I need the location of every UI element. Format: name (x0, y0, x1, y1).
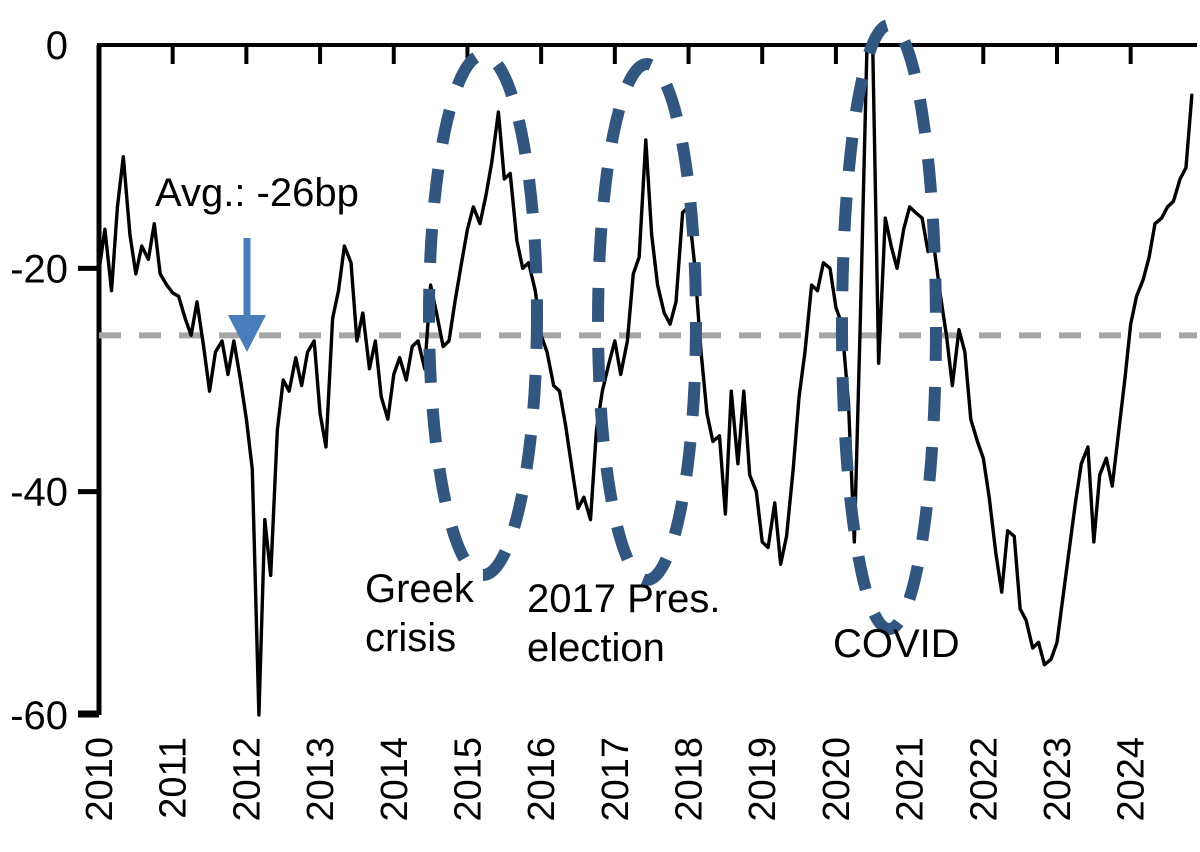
y-tick-label-0: 0 (46, 24, 68, 68)
x-tick-label-2013: 2013 (300, 737, 342, 822)
annotation-greek-crisis-line1: Greek (365, 567, 475, 611)
x-tick-label-2011: 2011 (153, 737, 195, 819)
x-tick-labels: 2010201120122013201420152016201720182019… (79, 737, 1153, 822)
y-tick-label--20: -20 (10, 247, 68, 291)
average-label: Avg.: -26bp (155, 171, 359, 215)
x-tick-label-2021: 2021 (890, 737, 932, 822)
line-chart: 0-20-40-60 Avg.: -26bp Greek crisis 2017… (0, 0, 1200, 852)
x-tick-label-2018: 2018 (669, 737, 711, 822)
x-tick-label-2020: 2020 (816, 737, 858, 822)
x-tick-label-2024: 2024 (1111, 737, 1153, 822)
x-tick-label-2015: 2015 (447, 737, 489, 822)
y-tick-label--40: -40 (10, 471, 68, 515)
x-tick-label-2019: 2019 (742, 737, 784, 822)
x-tick-label-2016: 2016 (521, 737, 563, 822)
chart-container: 0-20-40-60 Avg.: -26bp Greek crisis 2017… (0, 0, 1200, 852)
annotation-2017-election-line2: election (527, 626, 665, 670)
y-tick-label--60: -60 (10, 694, 68, 738)
x-tick-label-2017: 2017 (595, 737, 637, 822)
x-tick-label-2012: 2012 (226, 737, 268, 822)
x-tick-label-2010: 2010 (79, 737, 121, 822)
x-tick-label-2023: 2023 (1037, 737, 1079, 822)
annotation-2017-election-line1: 2017 Pres. (527, 577, 720, 621)
x-tick-label-2022: 2022 (963, 737, 1005, 822)
annotation-covid-label: COVID (833, 622, 960, 666)
annotation-greek-crisis-line2: crisis (365, 616, 456, 660)
x-tick-label-2014: 2014 (374, 737, 416, 822)
